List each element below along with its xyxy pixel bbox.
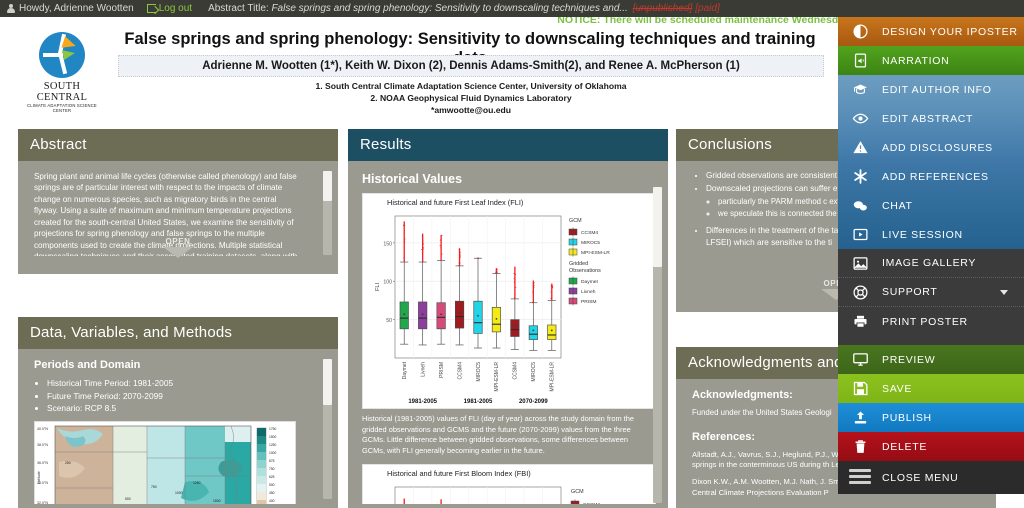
svg-text:Livneh: Livneh	[420, 362, 426, 377]
panel-results-heading: Results	[348, 129, 668, 161]
chat-bubbles-icon	[848, 196, 872, 216]
contrast-icon	[848, 22, 872, 42]
svg-text:40.0°N: 40.0°N	[37, 427, 48, 431]
menu-item-label: DELETE	[882, 441, 1024, 453]
monitor-icon	[848, 350, 872, 370]
abstract-open-label: OPEN	[165, 237, 190, 246]
logo-mark-icon	[39, 32, 85, 78]
svg-text:36.0°N: 36.0°N	[37, 461, 48, 465]
play-video-icon	[848, 225, 872, 245]
printer-icon	[848, 312, 872, 332]
menu-item-add-references[interactable]: ADD REFERENCES	[838, 162, 1024, 191]
svg-text:GCM: GCM	[571, 489, 584, 495]
panel-data-body: Periods and Domain Historical Time Perio…	[18, 349, 338, 504]
fbi-boxplot-figure: Historical and future First Bloom Index …	[362, 464, 656, 504]
panel-results[interactable]: Results Historical Values Historical and…	[348, 129, 668, 508]
poster-header: SOUTH CENTRAL CLIMATE ADAPTATION SCIENCE…	[0, 24, 845, 119]
abstract-open-toggle[interactable]: OPEN	[18, 237, 338, 258]
menu-item-edit-author-info[interactable]: EDIT AUTHOR INFO	[838, 75, 1024, 104]
menu-item-label: SAVE	[882, 383, 1024, 395]
svg-text:Daymet: Daymet	[402, 361, 408, 379]
panel-data-variables-methods[interactable]: Data, Variables, and Methods Periods and…	[18, 317, 338, 508]
menu-item-label: PRINT POSTER	[882, 316, 1024, 328]
svg-text:1981-2005: 1981-2005	[408, 399, 437, 405]
audio-file-icon	[848, 51, 872, 71]
svg-text:100: 100	[383, 280, 392, 286]
svg-text:MIROC5: MIROC5	[531, 362, 537, 382]
svg-text:50: 50	[386, 318, 392, 324]
menu-item-publish[interactable]: PUBLISH	[838, 403, 1024, 432]
svg-text:CCSM4: CCSM4	[581, 230, 598, 236]
chevron-down-icon	[163, 247, 193, 258]
panel-abstract-heading: Abstract	[18, 129, 338, 161]
menu-item-label: IMAGE GALLERY	[882, 257, 1024, 269]
svg-text:38.0°N: 38.0°N	[37, 443, 48, 447]
status-paid-badge: [paid]	[695, 3, 719, 14]
svg-text:1250: 1250	[269, 443, 277, 447]
abstract-title-label: Abstract Title:	[208, 3, 269, 14]
fli-chart-caption: Historical (1981-2005) values of FLI (da…	[362, 414, 634, 457]
menu-separator	[838, 336, 1024, 345]
svg-text:1750: 1750	[269, 427, 277, 431]
svg-text:MPI-ESM-LR: MPI-ESM-LR	[494, 361, 500, 391]
menu-item-support[interactable]: SUPPORT	[838, 278, 1024, 307]
svg-text:400: 400	[269, 499, 275, 503]
svg-text:Gridded: Gridded	[569, 261, 588, 267]
periods-and-domain-heading: Periods and Domain	[34, 358, 324, 374]
logout-button[interactable]: Log out	[147, 3, 192, 14]
poster-affiliations[interactable]: 1. South Central Climate Adaptation Scie…	[118, 76, 824, 117]
logo-line1: SOUTH CENTRAL	[22, 81, 102, 103]
trash-icon	[848, 437, 872, 457]
menu-item-label: PREVIEW	[882, 354, 1024, 366]
svg-text:Latitude: Latitude	[37, 471, 41, 484]
data-bullet-list: Historical Time Period: 1981-2005 Future…	[47, 377, 324, 415]
svg-text:1000: 1000	[175, 491, 183, 495]
svg-text:PRISM: PRISM	[581, 299, 597, 305]
poster-authors[interactable]: Adrienne M. Wootten (1*), Keith W. Dixon…	[118, 55, 824, 77]
asterisk-icon	[848, 167, 872, 187]
svg-text:1500: 1500	[213, 499, 221, 503]
abstract-scroll-thumb[interactable]	[323, 171, 332, 201]
svg-text:625: 625	[269, 475, 275, 479]
fbi-chart-svg: 200FBIGCMCCSM4MIROC5	[365, 481, 635, 504]
results-scroll-thumb[interactable]	[653, 187, 662, 267]
howdy-label: Howdy, Adrienne Wootten	[19, 3, 134, 14]
affiliation-2: 2. NOAA Geophysical Fluid Dynamics Labor…	[118, 92, 824, 104]
svg-text:1250: 1250	[193, 481, 201, 485]
floppy-disk-icon	[848, 379, 872, 399]
svg-text:Observations: Observations	[569, 268, 601, 274]
svg-text:MIROC5: MIROC5	[581, 240, 600, 246]
study-domain-map-figure: 40.0°N38.0°N 36.0°N34.0°N 32.0°N Latitud…	[34, 421, 296, 504]
menu-item-label: SUPPORT	[882, 286, 1000, 298]
upload-icon	[848, 408, 872, 428]
svg-text:FLI: FLI	[375, 282, 381, 291]
organization-logo: SOUTH CENTRAL CLIMATE ADAPTATION SCIENCE…	[22, 32, 102, 110]
menu-item-add-disclosures[interactable]: ADD DISCLOSURES	[838, 133, 1024, 162]
map-svg: 40.0°N38.0°N 36.0°N34.0°N 32.0°N Latitud…	[35, 422, 295, 504]
svg-text:1500: 1500	[269, 435, 277, 439]
data-scroll-thumb[interactable]	[323, 359, 332, 405]
svg-text:Daymet: Daymet	[581, 279, 598, 285]
svg-text:CCSM4: CCSM4	[457, 362, 463, 380]
svg-text:CCSM4: CCSM4	[513, 362, 519, 380]
warning-triangle-icon	[848, 138, 872, 158]
graduation-cap-icon	[848, 80, 872, 100]
list-item: Future Time Period: 2070-2099	[47, 390, 324, 403]
menu-item-design-your-iposter[interactable]: DESIGN YOUR IPOSTER	[838, 17, 1024, 46]
menu-item-image-gallery[interactable]: IMAGE GALLERY	[838, 249, 1024, 278]
svg-text:MPI-ESM-LR: MPI-ESM-LR	[581, 250, 610, 256]
panel-results-body: Historical Values Historical and future …	[348, 161, 668, 504]
menu-item-edit-abstract[interactable]: EDIT ABSTRACT	[838, 104, 1024, 133]
menu-item-label: LIVE SESSION	[882, 229, 1024, 241]
logout-label: Log out	[159, 3, 192, 14]
chevron-down-icon[interactable]	[1000, 290, 1008, 295]
svg-text:875: 875	[269, 459, 275, 463]
menu-item-label: NARRATION	[882, 55, 1024, 67]
user-icon	[6, 4, 15, 14]
fbi-chart-title: Historical and future First Bloom Index …	[365, 469, 653, 480]
logo-line2: CLIMATE ADAPTATION SCIENCE CENTER	[22, 103, 102, 113]
historical-values-heading: Historical Values	[362, 170, 656, 188]
status-unpublished-badge: [unpublished]	[633, 3, 693, 14]
menu-item-close-menu[interactable]: CLOSE MENU	[838, 461, 1024, 494]
menu-item-print-poster[interactable]: PRINT POSTER	[838, 307, 1024, 336]
menu-item-label: EDIT ABSTRACT	[882, 113, 1024, 125]
menu-item-save[interactable]: SAVE	[838, 374, 1024, 403]
data-scrollbar[interactable]	[323, 359, 332, 499]
svg-text:500: 500	[125, 497, 131, 501]
svg-text:1981-2005: 1981-2005	[464, 399, 493, 405]
ipostersession-side-menu[interactable]: DESIGN YOUR IPOSTERNARRATIONEDIT AUTHOR …	[838, 17, 1024, 494]
panel-abstract[interactable]: Abstract Spring plant and animal life cy…	[18, 129, 338, 274]
menu-item-live-session[interactable]: LIVE SESSION	[838, 220, 1024, 249]
image-icon	[848, 253, 872, 273]
list-item: Historical Time Period: 1981-2005	[47, 377, 324, 390]
menu-item-delete[interactable]: DELETE	[838, 432, 1024, 461]
svg-text:MPI-ESM-LR: MPI-ESM-LR	[550, 361, 556, 391]
svg-text:GCM: GCM	[569, 218, 582, 224]
svg-text:750: 750	[151, 485, 157, 489]
menu-item-label: ADD REFERENCES	[882, 171, 1024, 183]
abstract-title-value: False springs and spring phenology: Sens…	[271, 3, 627, 14]
svg-text:150: 150	[383, 241, 392, 247]
affiliation-1: 1. South Central Climate Adaptation Scie…	[118, 80, 824, 92]
menu-item-label: CHAT	[882, 200, 1024, 212]
svg-text:500: 500	[269, 483, 275, 487]
results-scrollbar[interactable]	[653, 187, 662, 503]
admin-top-bar: Howdy, Adrienne Wootten Log out Abstract…	[0, 0, 1024, 17]
svg-text:450: 450	[269, 491, 275, 495]
eye-icon	[848, 109, 872, 129]
fli-chart-svg: 50100150DaymetLivnehPRISMCCSM4MIROC5MPI-…	[365, 210, 635, 406]
list-item: Scenario: RCP 8.5	[47, 402, 324, 415]
svg-text:MIROC5: MIROC5	[476, 362, 482, 382]
panel-data-heading: Data, Variables, and Methods	[18, 317, 338, 349]
svg-text:750: 750	[269, 467, 275, 471]
svg-text:2070-2099: 2070-2099	[519, 399, 548, 405]
menu-item-label: EDIT AUTHOR INFO	[882, 84, 1024, 96]
fli-chart-title: Historical and future First Leaf Index (…	[365, 198, 653, 209]
svg-text:CCSM4: CCSM4	[583, 502, 600, 504]
menu-item-label: CLOSE MENU	[882, 472, 1024, 484]
contact-email: *amwootte@ou.edu	[118, 104, 824, 116]
menu-item-chat[interactable]: CHAT	[838, 191, 1024, 220]
menu-item-narration[interactable]: NARRATION	[838, 46, 1024, 75]
menu-item-label: DESIGN YOUR IPOSTER	[882, 26, 1024, 38]
svg-text:32.0°N: 32.0°N	[37, 501, 48, 504]
svg-text:Livneh: Livneh	[581, 289, 596, 295]
logout-icon	[147, 4, 156, 13]
menu-item-preview[interactable]: PREVIEW	[838, 345, 1024, 374]
menu-item-label: PUBLISH	[882, 412, 1024, 424]
svg-text:250: 250	[65, 461, 71, 465]
fli-boxplot-figure: Historical and future First Leaf Index (…	[362, 193, 656, 409]
svg-text:PRISM: PRISM	[439, 362, 445, 378]
hamburger-icon	[848, 468, 872, 488]
lifebuoy-icon	[848, 282, 872, 302]
svg-text:1000: 1000	[269, 451, 277, 455]
menu-item-label: ADD DISCLOSURES	[882, 142, 1024, 154]
